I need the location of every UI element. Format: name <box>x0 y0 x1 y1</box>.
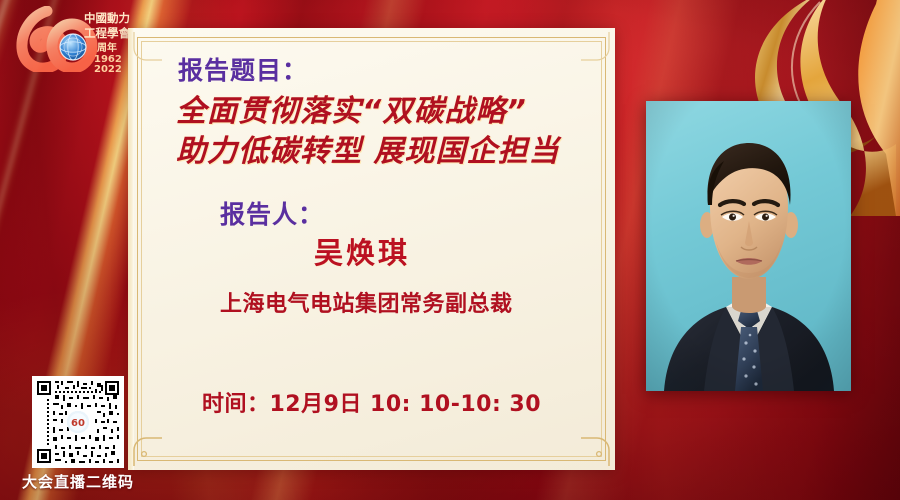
presentation-slide: 中國動力 工程學會 周年 1962 2022 报告题目： 全面贯彻落实“双碳战略… <box>0 0 900 500</box>
speaker-affiliation: 上海电气电站集团常务副总裁 <box>220 294 589 316</box>
qr-code-icon[interactable]: 60 <box>32 376 124 468</box>
session-time: 时间：12月9日 10: 10-10: 30 <box>128 386 615 418</box>
topic-label: 报告题目： <box>178 58 589 83</box>
qr-code-label: 大会直播二维码 <box>22 471 134 492</box>
logo-anniversary: 周年 <box>97 41 117 54</box>
svg-text:60: 60 <box>71 418 85 429</box>
talk-title-line-2: 助力低碳转型 展现国企担当 <box>176 133 589 171</box>
livestream-qr-block[interactable]: 60 大会直播二维码 <box>22 376 134 492</box>
anniversary-logo: 中國動力 工程學會 周年 1962 2022 <box>14 6 146 72</box>
info-card: 报告题目： 全面贯彻落实“双碳战略” 助力低碳转型 展现国企担当 报告人： 吴焕… <box>128 28 615 470</box>
speaker-portrait <box>646 101 851 391</box>
logo-org-line1: 中國動力 <box>84 11 130 25</box>
logo-year-to: 2022 <box>94 64 122 72</box>
logo-org-line2: 工程學會 <box>84 26 130 40</box>
talk-title-line-1: 全面贯彻落实“双碳战略” <box>176 93 589 131</box>
speaker-label: 报告人： <box>220 202 589 227</box>
society-emblem-icon <box>60 34 86 60</box>
speaker-name: 吴焕琪 <box>314 239 589 268</box>
